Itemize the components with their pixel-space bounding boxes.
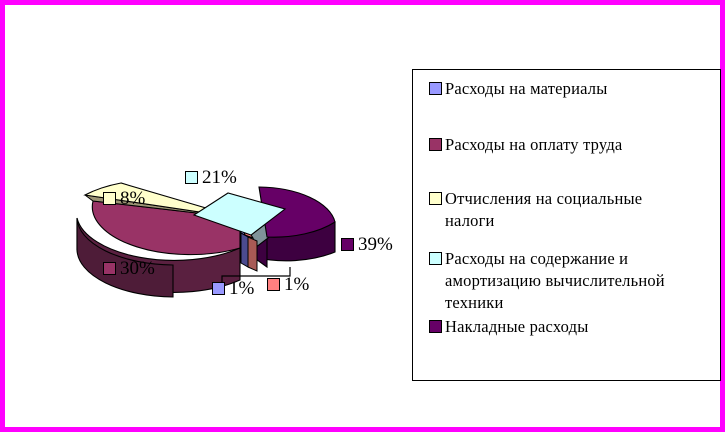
legend-item-overhead[interactable]: Накладные расходы	[429, 316, 714, 338]
data-label-text-materials: 1%	[229, 279, 254, 298]
legend-swatch-social-tax	[429, 192, 442, 205]
chart-page: 21% 8% 30% 39% 1% 1% Расхо	[0, 0, 725, 432]
data-label-text-other: 1%	[284, 275, 309, 294]
pie-chart	[5, 5, 405, 427]
legend-label-materials: Расходы на материалы	[445, 78, 608, 100]
legend-label-computing: Расходы на содержание и амортизацию вычи…	[445, 248, 665, 314]
legend-item-materials[interactable]: Расходы на материалы	[429, 78, 714, 100]
legend-label-labor: Расходы на оплату труда	[445, 134, 622, 156]
data-label-text-labor: 30%	[120, 259, 155, 278]
data-label-text-social: 8%	[120, 189, 145, 208]
data-label-swatch-labor	[103, 262, 116, 275]
data-label-swatch-computing	[185, 171, 198, 184]
legend-label-overhead: Накладные расходы	[445, 316, 589, 338]
legend-swatch-labor	[429, 138, 442, 151]
legend-swatch-computing	[429, 252, 442, 265]
data-label-text-computing: 21%	[202, 168, 237, 187]
data-label-swatch-overhead	[341, 238, 354, 251]
legend-swatch-overhead	[429, 320, 442, 333]
slice-side-other	[248, 237, 257, 271]
chart-legend: Расходы на материалы Расходы на оплату т…	[412, 69, 721, 381]
data-label-overhead: 39%	[341, 235, 393, 254]
legend-item-social-tax[interactable]: Отчисления на социальные налоги	[429, 188, 714, 232]
data-label-text-overhead: 39%	[358, 235, 393, 254]
legend-item-computing[interactable]: Расходы на содержание и амортизацию вычи…	[429, 248, 714, 314]
legend-label-social-tax: Отчисления на социальные налоги	[445, 188, 642, 232]
page-border-bottom	[0, 427, 725, 432]
legend-items: Расходы на материалы Расходы на оплату т…	[429, 78, 714, 340]
data-label-labor: 30%	[103, 259, 155, 278]
slice-side-materials	[241, 233, 248, 267]
legend-item-labor[interactable]: Расходы на оплату труда	[429, 134, 714, 156]
data-label-computing: 21%	[185, 168, 237, 187]
data-label-social: 8%	[103, 189, 145, 208]
pie-chart-svg	[5, 5, 405, 427]
data-label-materials: 1%	[212, 279, 254, 298]
plot-area: 21% 8% 30% 39% 1% 1% Расхо	[5, 5, 720, 427]
data-label-other: 1%	[267, 275, 309, 294]
legend-swatch-materials	[429, 82, 442, 95]
data-label-swatch-social	[103, 192, 116, 205]
data-label-swatch-materials	[212, 282, 225, 295]
data-label-swatch-other	[267, 278, 280, 291]
